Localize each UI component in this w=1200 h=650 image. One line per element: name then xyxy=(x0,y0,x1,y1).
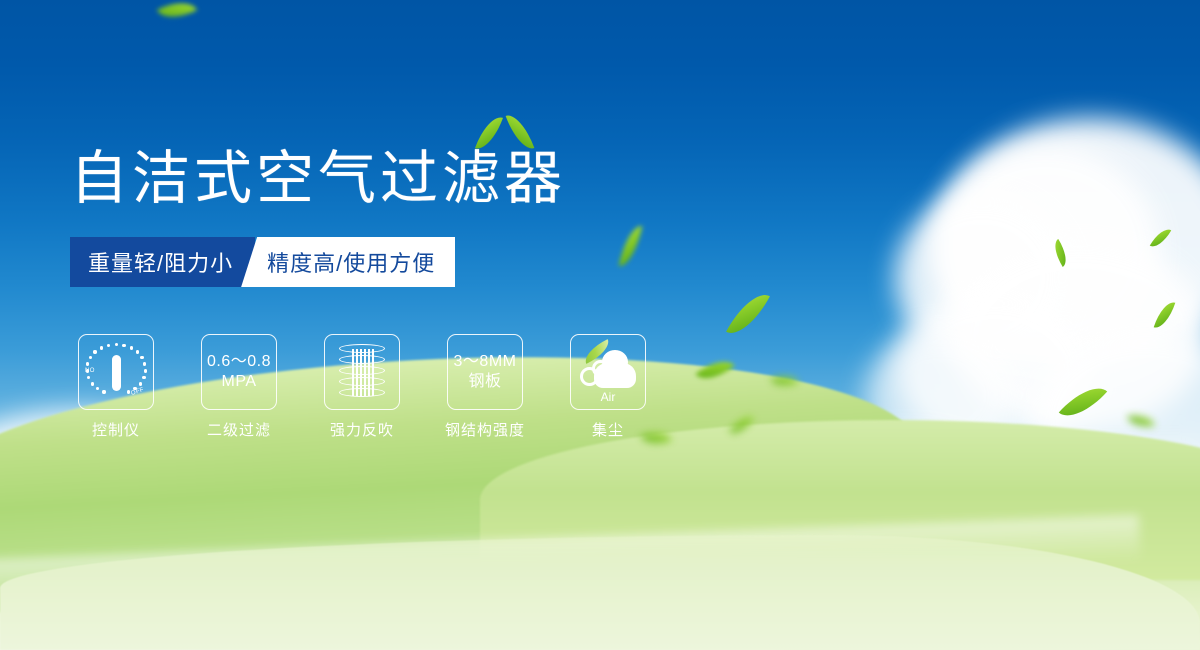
leaf-icon xyxy=(619,223,643,269)
subtitle-bar: 重量轻/阻力小 精度高/使用方便 xyxy=(70,237,455,287)
feature-icon-box xyxy=(324,334,400,410)
gauge-label-off: OFF xyxy=(130,387,144,397)
feature-item-two-stage-filter[interactable]: 0.6～0.8 MPA 二级过滤 xyxy=(201,334,277,440)
feature-label: 二级过滤 xyxy=(207,419,271,440)
gauge-icon: NO OFF xyxy=(86,343,146,401)
feature-item-strong-blowback[interactable]: 强力反吹 xyxy=(324,334,400,440)
page-title: 自洁式空气过滤器 xyxy=(70,146,566,210)
leaf-icon xyxy=(1049,239,1072,267)
subtitle-tag-right: 精度高/使用方便 xyxy=(241,237,455,287)
feature-label: 钢结构强度 xyxy=(445,419,525,440)
feature-icon-text-line2: 钢板 xyxy=(468,372,501,392)
feature-icon-box: 3～8MM 钢板 xyxy=(447,334,523,410)
leaf-icon xyxy=(1059,377,1107,427)
feature-item-controller[interactable]: NO OFF 控制仪 xyxy=(78,334,154,440)
air-label: Air xyxy=(580,390,636,404)
filter-cartridge-icon xyxy=(339,344,385,400)
cloud-puff xyxy=(940,118,1200,368)
feature-icon-box: 0.6～0.8 MPA xyxy=(201,334,277,410)
feature-icon-box: NO OFF xyxy=(78,334,154,410)
leaf-icon xyxy=(157,0,197,26)
gauge-needle xyxy=(112,355,121,391)
feature-label: 强力反吹 xyxy=(330,419,394,440)
feature-icon-text-line1: 3～8MM xyxy=(454,352,517,372)
feature-icon-text-line2: MPA xyxy=(222,372,257,392)
feature-item-steel-strength[interactable]: 3～8MM 钢板 钢结构强度 xyxy=(447,334,523,440)
leaf-icon xyxy=(726,286,770,342)
gauge-label-no: NO xyxy=(85,368,95,374)
feature-icon-text-line1: 0.6～0.8 xyxy=(207,352,271,372)
subtitle-tag-left: 重量轻/阻力小 xyxy=(70,237,255,287)
feature-label: 集尘 xyxy=(592,419,624,440)
cloud-puff xyxy=(895,195,1070,360)
feature-label: 控制仪 xyxy=(92,419,140,440)
leaf-icon xyxy=(1154,299,1176,332)
feature-icon-box: Air xyxy=(570,334,646,410)
feature-list: NO OFF 控制仪 0.6～0.8 MPA 二级过滤 xyxy=(78,334,646,440)
product-banner: 自洁式空气过滤器 重量轻/阻力小 精度高/使用方便 xyxy=(0,0,1200,650)
cloud-air-icon: Air xyxy=(580,350,636,388)
leaf-icon xyxy=(1150,225,1172,251)
leaf-icon xyxy=(1127,412,1155,429)
feature-item-dust-collection[interactable]: Air 集尘 xyxy=(570,334,646,440)
cloud-puff xyxy=(930,145,1160,355)
